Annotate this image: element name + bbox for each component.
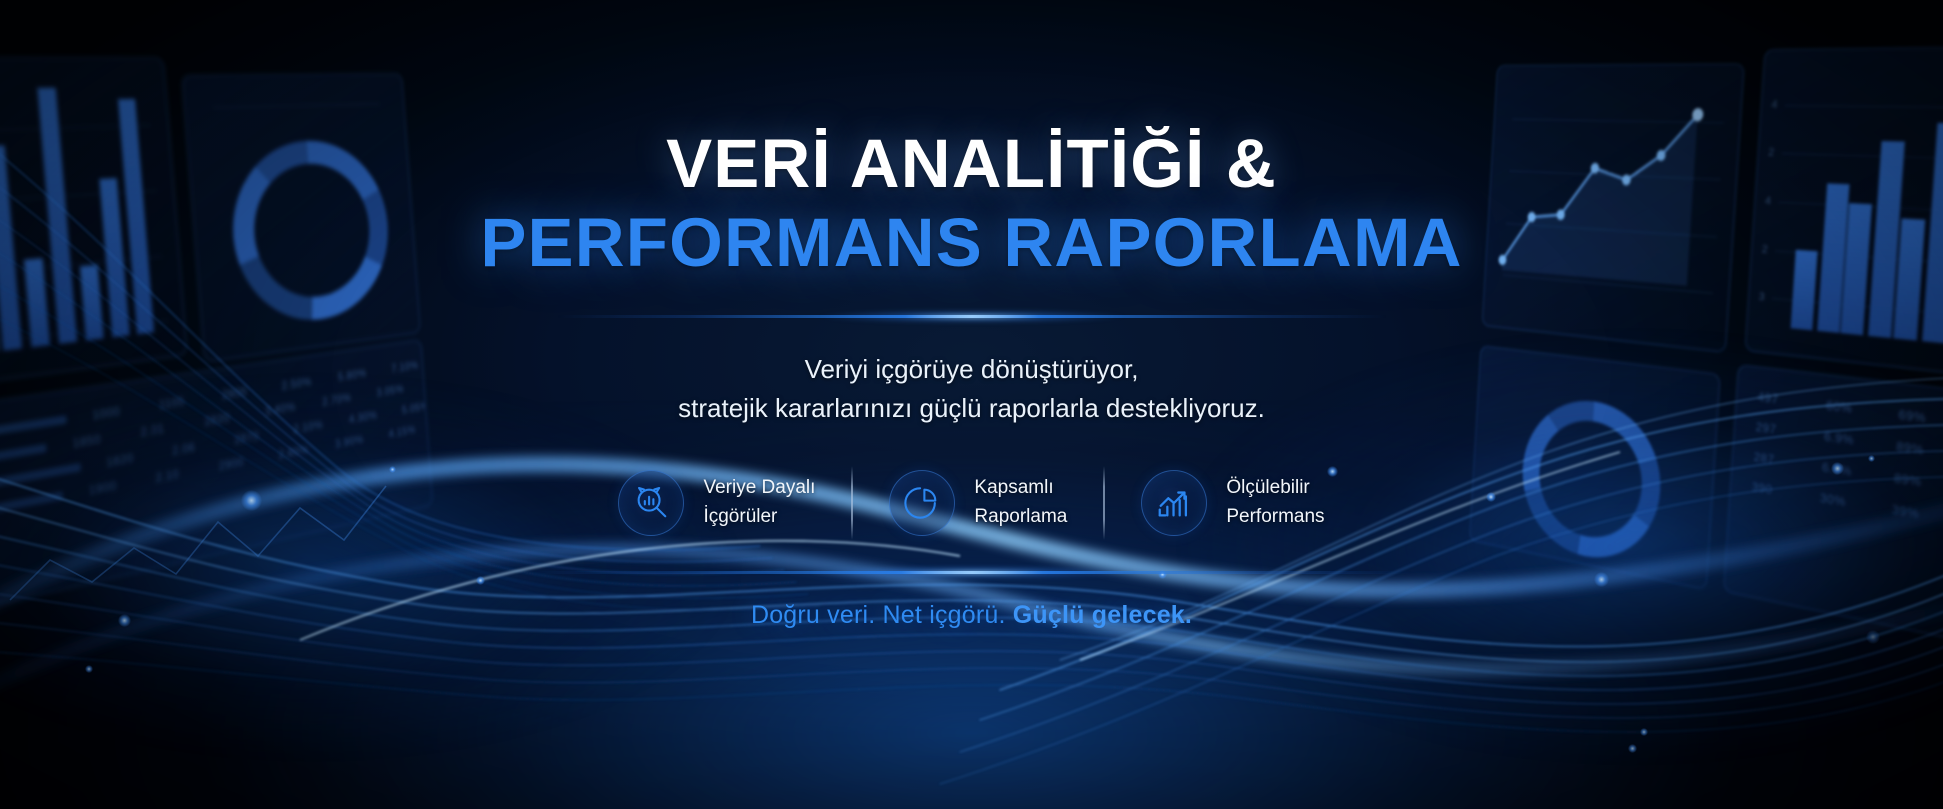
- tagline-divider: [532, 571, 1412, 574]
- tagline: Doğru veri. Net içgörü. Güçlü gelecek.: [751, 601, 1192, 630]
- subtitle: Veriyi içgörüye dönüştürüyor, stratejik …: [678, 350, 1265, 429]
- feature-label-line-1: Ölçülebilir: [1226, 474, 1324, 503]
- tagline-regular: Doğru veri. Net içgörü.: [751, 601, 1013, 629]
- tagline-bold: Güçlü gelecek.: [1013, 601, 1192, 629]
- feature-item-comprehensive-reporting[interactable]: Kapsamlı Raporlama: [853, 470, 1103, 536]
- magnifier-bar-chart-icon: [618, 470, 684, 536]
- feature-label-line-2: Raporlama: [974, 503, 1067, 532]
- feature-label-line-1: Kapsamlı: [974, 474, 1067, 503]
- tagline-section: Doğru veri. Net içgörü. Güçlü gelecek.: [532, 571, 1412, 630]
- banner-content: VERİ ANALİTİĞİ & PERFORMANS RAPORLAMA Ve…: [0, 0, 1943, 809]
- page-title: VERİ ANALİTİĞİ & PERFORMANS RAPORLAMA: [480, 129, 1462, 279]
- title-divider: [557, 315, 1387, 318]
- feature-label-line-2: İçgörüler: [703, 503, 815, 532]
- title-line-2: PERFORMANS RAPORLAMA: [480, 208, 1462, 278]
- pie-chart-icon: [889, 470, 955, 536]
- feature-label-line-2: Performans: [1226, 503, 1324, 532]
- feature-item-measurable-performance[interactable]: Ölçülebilir Performans: [1105, 470, 1360, 536]
- feature-label: Veriye Dayalı İçgörüler: [703, 474, 815, 532]
- feature-label: Kapsamlı Raporlama: [974, 474, 1067, 532]
- feature-item-data-driven-insights[interactable]: Veriye Dayalı İçgörüler: [582, 470, 851, 536]
- feature-label: Ölçülebilir Performans: [1226, 474, 1324, 532]
- title-line-1: VERİ ANALİTİĞİ &: [480, 129, 1462, 199]
- banner-stage: 1000110528002.50%5.80%7.10% 18502.012820…: [0, 0, 1943, 809]
- subtitle-line-2: stratejik kararlarınızı güçlü raporlarla…: [678, 389, 1265, 429]
- subtitle-line-1: Veriyi içgörüye dönüştürüyor,: [678, 350, 1265, 390]
- growth-arrow-bar-chart-icon: [1141, 470, 1207, 536]
- feature-list: Veriye Dayalı İçgörüler Kapsamlı Raporla…: [582, 466, 1360, 540]
- feature-label-line-1: Veriye Dayalı: [703, 474, 815, 503]
